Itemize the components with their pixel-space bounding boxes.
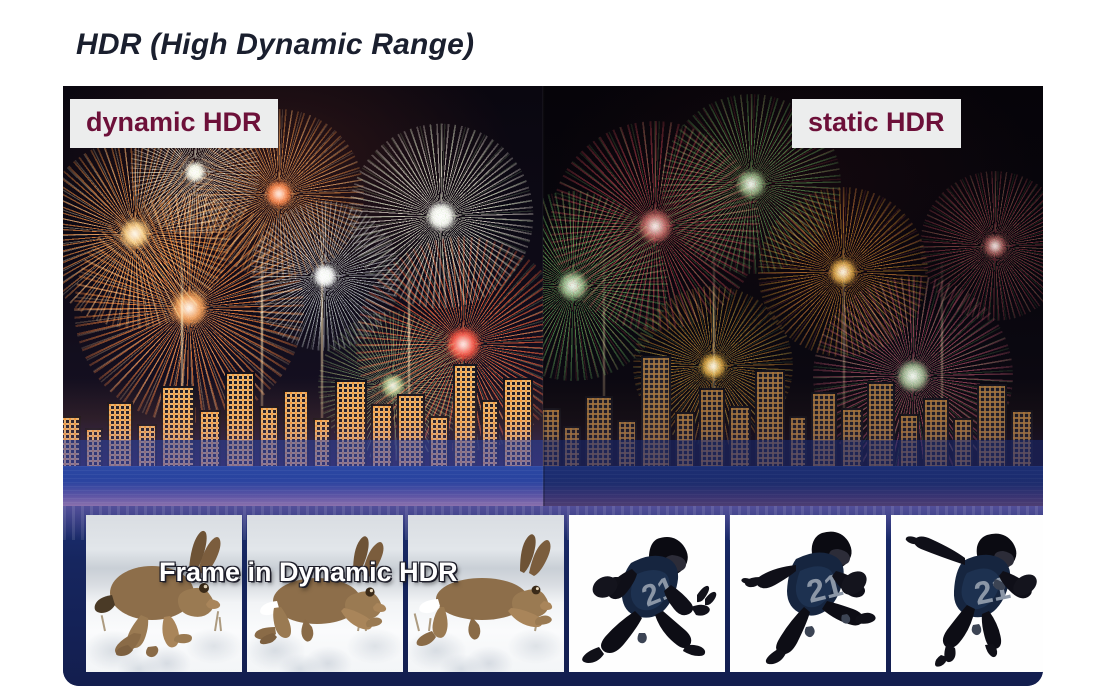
list-item[interactable] <box>247 515 403 672</box>
filmstrip: 21 <box>86 515 1020 672</box>
page-title: HDR (High Dynamic Range) <box>76 28 474 62</box>
static-hdr-label: static HDR <box>792 99 961 148</box>
hdr-slide: HDR (High Dynamic Range) <box>0 0 1110 700</box>
city-skyline <box>63 356 543 506</box>
dynamic-hdr-label: dynamic HDR <box>70 99 278 148</box>
dynamic-hdr-half <box>63 86 543 506</box>
comparison-seam <box>542 86 545 506</box>
list-item[interactable]: 21 <box>569 515 725 672</box>
static-hdr-half <box>543 86 1043 506</box>
hare-icon <box>86 515 242 672</box>
hdr-comparison-panel: Frame in Dynamic HDR <box>63 86 1043 686</box>
frame-caption: Frame in Dynamic HDR <box>159 557 458 588</box>
hare-icon <box>408 515 564 672</box>
list-item[interactable] <box>86 515 242 672</box>
city-skyline <box>543 356 1043 506</box>
football-player-icon: 21 <box>891 515 1043 672</box>
list-item[interactable]: 21 <box>730 515 886 672</box>
football-player-icon: 21 <box>569 515 725 672</box>
fireworks-photo <box>63 86 1043 506</box>
list-item[interactable]: 21 <box>891 515 1043 672</box>
hare-icon <box>247 515 403 672</box>
football-player-icon: 21 <box>730 515 886 672</box>
list-item[interactable] <box>408 515 564 672</box>
